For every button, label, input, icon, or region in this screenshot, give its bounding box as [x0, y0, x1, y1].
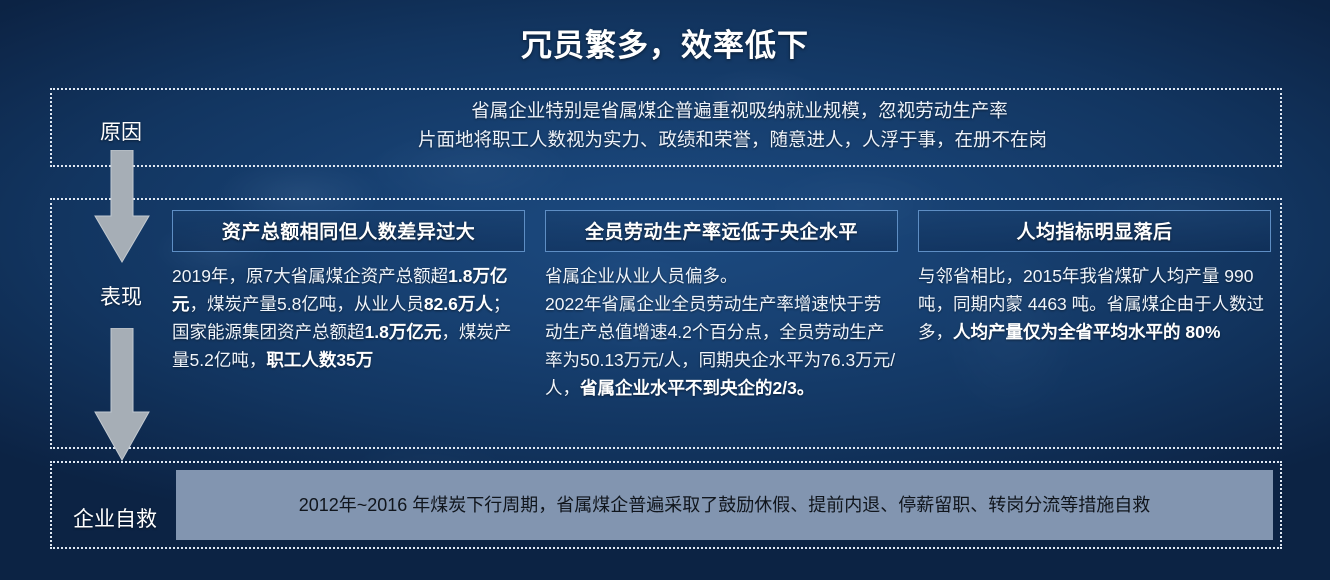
rail-label-rescue: 企业自救 — [50, 503, 180, 533]
paragraph: 省属企业从业人员偏多。 — [545, 262, 898, 290]
cause-line-1: 省属企业特别是省属煤企普遍重视吸纳就业规模，忽视劳动生产率 — [190, 96, 1275, 125]
page-title: 冗员繁多，效率低下 — [0, 20, 1330, 65]
cause-text-block: 省属企业特别是省属煤企普遍重视吸纳就业规模，忽视劳动生产率 片面地将职工人数视为… — [190, 96, 1275, 154]
rescue-panel: 2012年~2016 年煤炭下行周期，省属煤企普遍采取了鼓励休假、提前内退、停薪… — [176, 470, 1273, 540]
paragraph: 2019年，原7大省属煤企资产总额超1.8万亿元，煤炭产量5.8亿吨，从业人员8… — [172, 262, 525, 318]
column-heading: 资产总额相同但人数差异过大 — [172, 210, 525, 252]
column-heading: 全员劳动生产率远低于央企水平 — [545, 210, 898, 252]
appearance-column-2: 全员劳动生产率远低于央企水平 省属企业从业人员偏多。2022年省属企业全员劳动生… — [545, 210, 898, 442]
column-body: 省属企业从业人员偏多。2022年省属企业全员劳动生产率增速快于劳动生产总值增速4… — [545, 262, 898, 402]
rail-label-appearance: 表现 — [56, 281, 186, 311]
appearance-column-1: 资产总额相同但人数差异过大 2019年，原7大省属煤企资产总额超1.8万亿元，煤… — [172, 210, 525, 442]
column-body: 2019年，原7大省属煤企资产总额超1.8万亿元，煤炭产量5.8亿吨，从业人员8… — [172, 262, 525, 374]
paragraph: 与邻省相比，2015年我省煤矿人均产量 990吨，同期内蒙 4463 吨。省属煤… — [918, 262, 1271, 346]
appearance-column-3: 人均指标明显落后 与邻省相比，2015年我省煤矿人均产量 990吨，同期内蒙 4… — [918, 210, 1271, 442]
arrow-down-icon — [92, 328, 152, 463]
appearance-columns: 资产总额相同但人数差异过大 2019年，原7大省属煤企资产总额超1.8万亿元，煤… — [172, 210, 1272, 442]
cause-line-2: 片面地将职工人数视为实力、政绩和荣誉，随意进人，人浮于事，在册不在岗 — [190, 125, 1275, 154]
rail-label-cause: 原因 — [56, 116, 186, 146]
column-heading: 人均指标明显落后 — [918, 210, 1271, 252]
column-body: 与邻省相比，2015年我省煤矿人均产量 990吨，同期内蒙 4463 吨。省属煤… — [918, 262, 1271, 346]
rescue-text: 2012年~2016 年煤炭下行周期，省属煤企普遍采取了鼓励休假、提前内退、停薪… — [287, 492, 1163, 518]
arrow-down-icon — [92, 150, 152, 265]
paragraph: 国家能源集团资产总额超1.8万亿元，煤炭产量5.2亿吨，职工人数35万 — [172, 318, 525, 374]
paragraph: 2022年省属企业全员劳动生产率增速快于劳动生产总值增速4.2个百分点，全员劳动… — [545, 290, 898, 402]
